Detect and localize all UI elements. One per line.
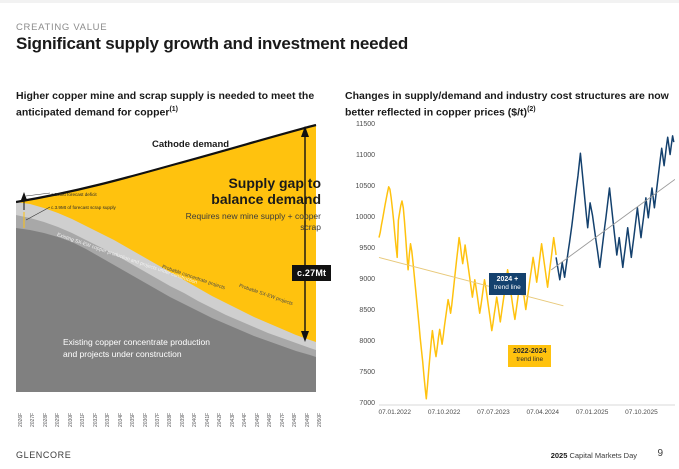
tag-2022-2024-trend-line2: trend line [516, 356, 543, 363]
right-y-tick: 11500 [345, 121, 375, 128]
left-x-tick: 2048F [292, 413, 298, 427]
page-number: 9 [657, 448, 663, 459]
right-x-tick: 07.01.2025 [565, 409, 619, 416]
left-chart-footnote-marker: (1) [169, 106, 178, 113]
footer-event-year: 2025 [551, 451, 568, 460]
left-x-tick: 2045F [255, 413, 261, 427]
left-x-tick: 2027F [30, 413, 36, 427]
left-x-tick: 2049F [305, 413, 311, 427]
left-x-tick: 2032F [93, 413, 99, 427]
left-x-tick: 2034F [118, 413, 124, 427]
supply-gap-badge: c.27Mt [292, 265, 331, 281]
right-x-tick: 07.07.2023 [466, 409, 520, 416]
left-x-tick: 2046F [267, 413, 273, 427]
left-x-tick: 2035F [130, 413, 136, 427]
cathode-demand-label: Cathode demand [152, 139, 229, 150]
page-title: Significant supply growth and investment… [16, 34, 408, 54]
slide-root: CREATING VALUE Significant supply growth… [0, 0, 679, 469]
footer-rule [0, 434, 679, 435]
left-x-tick: 2039F [180, 413, 186, 427]
right-y-tick: 7000 [345, 400, 375, 407]
right-y-tick: 11000 [345, 152, 375, 159]
left-chart-title-text: Higher copper mine and scrap supply is n… [16, 90, 314, 119]
left-x-tick: 2047F [280, 413, 286, 427]
top-rule [0, 0, 679, 3]
left-x-tick: 2036F [143, 413, 149, 427]
base-block-label: Existing copper concentrate production a… [63, 337, 223, 360]
left-x-tick: 2042F [217, 413, 223, 427]
left-x-tick: 2050F [317, 413, 323, 427]
right-y-tick: 8000 [345, 338, 375, 345]
footer-event: 2025 Capital Markets Day [551, 451, 637, 460]
right-y-tick: 8500 [345, 307, 375, 314]
eyebrow-label: CREATING VALUE [16, 22, 107, 33]
right-chart-footnote-marker: (2) [527, 106, 536, 113]
left-x-tick: 2037F [155, 413, 161, 427]
right-y-tick: 10000 [345, 214, 375, 221]
right-y-tick: 10500 [345, 183, 375, 190]
left-x-tick: 2031F [80, 413, 86, 427]
left-x-tick: 2040F [192, 413, 198, 427]
annotation-forecast-scrap: c.3.9Mt of forecast scrap supply [51, 205, 116, 210]
left-x-tick: 2043F [230, 413, 236, 427]
left-x-tick: 2026F [18, 413, 24, 427]
right-x-tick: 07.01.2022 [368, 409, 422, 416]
left-chart-title: Higher copper mine and scrap supply is n… [16, 90, 331, 120]
right-x-tick: 07.10.2025 [614, 409, 668, 416]
trend-line-2022-2024 [379, 257, 563, 305]
right-y-tick: 9500 [345, 245, 375, 252]
tag-2024-trend-line1: 2024 + [497, 276, 519, 283]
tag-2024-trend-line2: trend line [494, 284, 521, 291]
left-x-tick: 2028F [43, 413, 49, 427]
tag-2022-2024-trend: 2022-2024 trend line [508, 345, 551, 367]
left-chart-x-axis: 2026F2027F2028F2029F2030F2031F2032F2033F… [16, 393, 328, 427]
right-x-tick: 07.04.2024 [516, 409, 570, 416]
left-x-tick: 2033F [105, 413, 111, 427]
right-chart-title: Changes in supply/demand and industry co… [345, 90, 675, 120]
brand-logo: GLENCORE [16, 450, 71, 460]
right-chart-title-text: Changes in supply/demand and industry co… [345, 90, 669, 119]
left-x-tick: 2044F [242, 413, 248, 427]
left-x-tick: 2038F [167, 413, 173, 427]
price-line-2022-2024 [379, 187, 556, 399]
annotation-forecast-deficit: c.300kt forecast deficit [51, 192, 97, 197]
left-x-tick: 2029F [55, 413, 61, 427]
footer-event-name: Capital Markets Day [569, 451, 637, 460]
right-y-tick: 9000 [345, 276, 375, 283]
supply-gap-headline: Supply gap to balance demand [193, 175, 321, 207]
right-y-tick: 7500 [345, 369, 375, 376]
left-x-tick: 2041F [205, 413, 211, 427]
trend-line-2024-plus [551, 179, 675, 270]
supply-gap-subtext: Requires new mine supply + copper scrap [185, 211, 321, 233]
tag-2022-2024-trend-line1: 2022-2024 [513, 348, 546, 355]
price-line-2024-plus [556, 136, 674, 280]
tag-2024-trend: 2024 + trend line [489, 273, 526, 295]
left-x-tick: 2030F [68, 413, 74, 427]
right-x-tick: 07.10.2022 [417, 409, 471, 416]
